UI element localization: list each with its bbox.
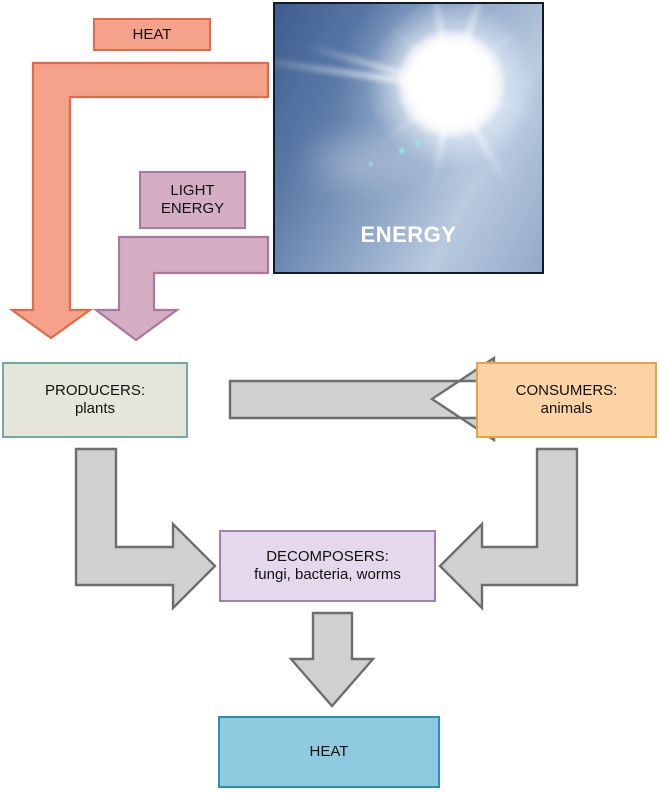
decomposers-box: DECOMPOSERS: fungi, bacteria, worms (219, 530, 436, 602)
heat-source-label: HEAT (133, 26, 172, 44)
energy-photo: ENERGY (273, 2, 544, 274)
light-energy-elbow-arrow (96, 237, 268, 340)
lens-flare-dot-icon (415, 141, 420, 146)
decomposers-label-line2: fungi, bacteria, worms (254, 566, 401, 584)
producers-to-decomposers-arrow (76, 449, 215, 608)
producers-label-line2: plants (45, 400, 145, 418)
consumers-to-decomposers-arrow (440, 449, 577, 608)
lens-flare-dot-icon (399, 148, 405, 154)
heat-output-label: HEAT (310, 743, 349, 761)
producers-label-line1: PRODUCERS: (45, 382, 145, 400)
diagram-canvas: HEAT LIGHT ENERGY ENERGY PRODUCERS: plan… (0, 0, 660, 793)
energy-photo-caption: ENERGY (275, 222, 542, 248)
heat-output-box: HEAT (218, 716, 440, 788)
sun-core-icon (399, 32, 503, 136)
decomposers-label-line1: DECOMPOSERS: (254, 548, 401, 566)
light-energy-label-line2: ENERGY (161, 200, 224, 218)
consumers-label-line1: CONSUMERS: (516, 382, 618, 400)
producers-to-consumers-arrow (230, 358, 494, 440)
consumers-label-line2: animals (516, 400, 618, 418)
consumers-box: CONSUMERS: animals (476, 362, 657, 438)
heat-source-box: HEAT (93, 18, 211, 51)
decomposers-to-heat-arrow (291, 613, 373, 706)
light-energy-box: LIGHT ENERGY (139, 171, 246, 229)
light-energy-label-line1: LIGHT (161, 182, 224, 200)
lens-flare-dot-icon (369, 162, 373, 166)
producers-box: PRODUCERS: plants (2, 362, 188, 438)
lens-haze (291, 122, 430, 202)
